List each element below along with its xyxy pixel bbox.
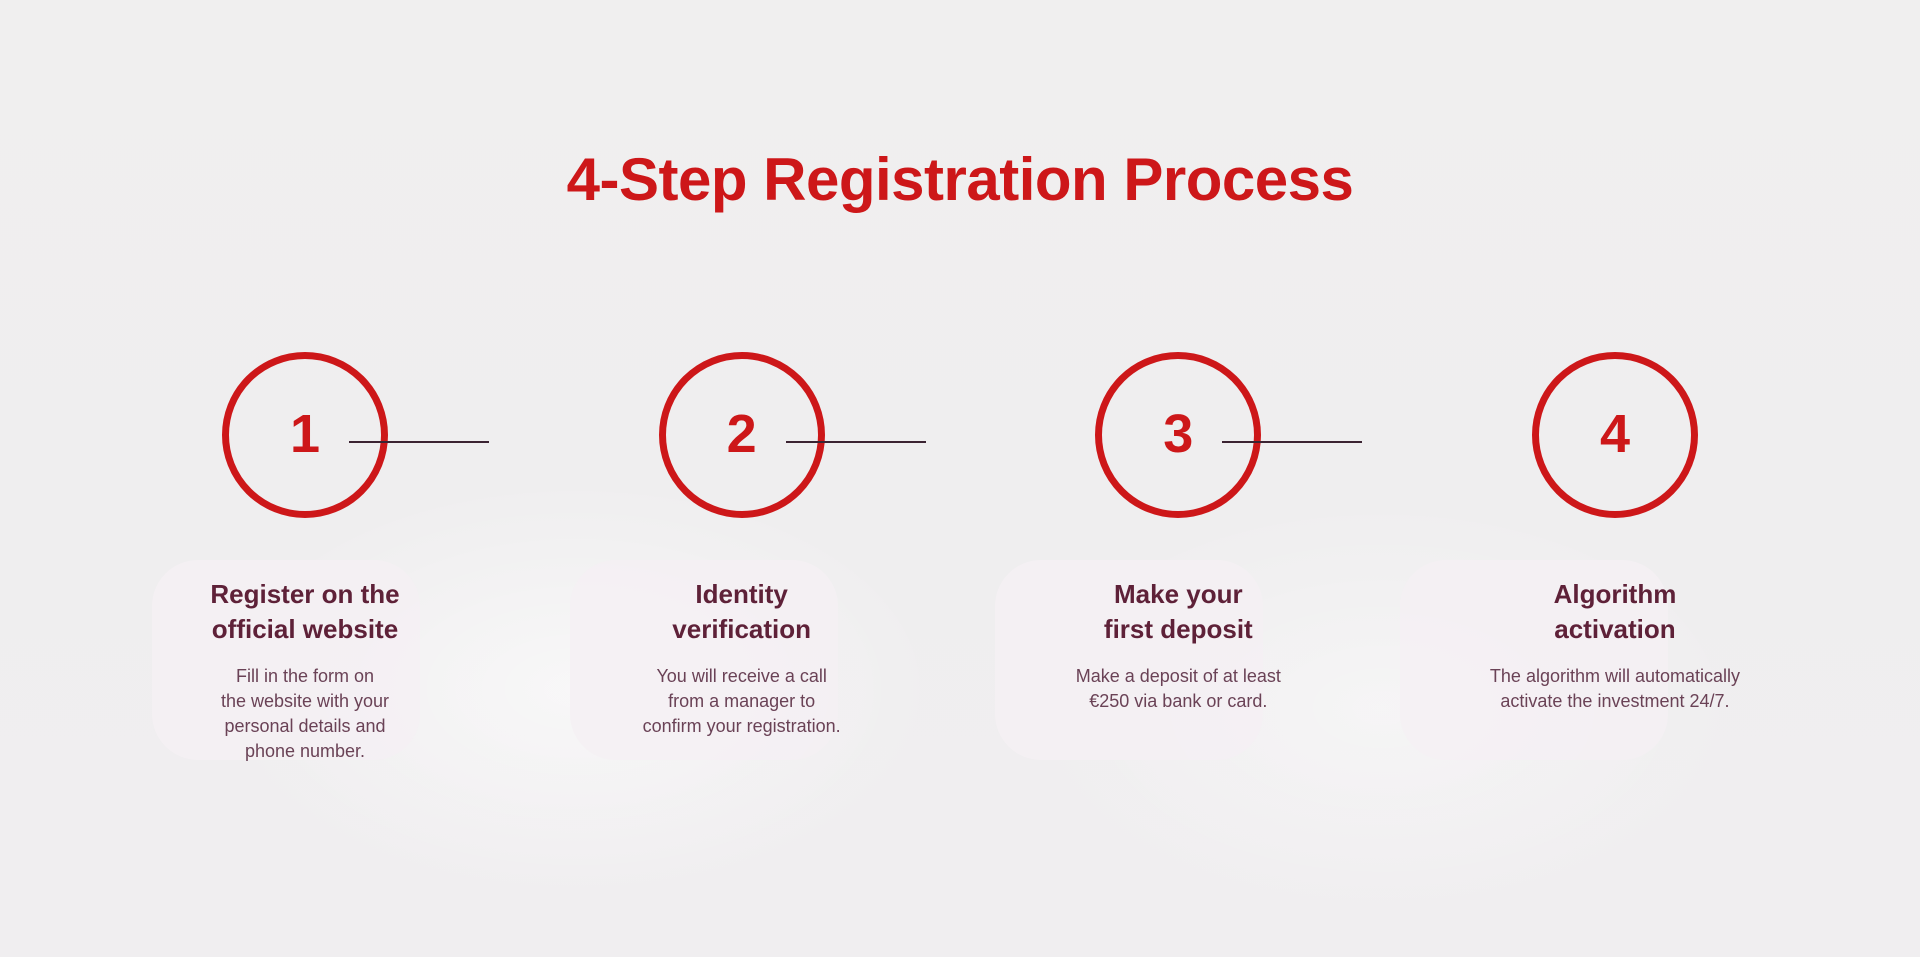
step-item-1: 1 Register on the official website Fill …: [130, 352, 480, 763]
step-circle-2: 2: [659, 352, 825, 518]
page-title: 4-Step Registration Process: [0, 148, 1920, 211]
step-number-1: 1: [290, 407, 320, 461]
step-connector-1-to-2: [349, 441, 489, 443]
step-item-3: 3 Make your first deposit Make a deposit…: [1003, 352, 1353, 714]
step-description-1: Fill in the form on the website with you…: [221, 664, 389, 763]
steps-row: 1 Register on the official website Fill …: [130, 352, 1790, 763]
step-number-3: 3: [1163, 407, 1193, 461]
registration-process-infographic: 4-Step Registration Process 1 Register o…: [0, 0, 1920, 957]
step-connector-3-to-4: [1222, 441, 1362, 443]
step-heading-1: Register on the official website: [210, 577, 399, 646]
step-number-4: 4: [1600, 407, 1630, 461]
step-description-4: The algorithm will automatically activat…: [1490, 664, 1740, 714]
step-number-2: 2: [727, 407, 757, 461]
step-heading-3: Make your first deposit: [1104, 577, 1253, 646]
step-circle-1: 1: [222, 352, 388, 518]
step-item-2: 2 Identity verification You will receive…: [567, 352, 917, 739]
step-heading-2: Identity verification: [672, 577, 811, 646]
step-circle-3: 3: [1095, 352, 1261, 518]
step-description-2: You will receive a call from a manager t…: [643, 664, 841, 738]
step-connector-2-to-3: [786, 441, 926, 443]
step-heading-4: Algorithm activation: [1554, 577, 1677, 646]
step-circle-4: 4: [1532, 352, 1698, 518]
step-description-3: Make a deposit of at least €250 via bank…: [1076, 664, 1281, 714]
step-item-4: 4 Algorithm activation The algorithm wil…: [1440, 352, 1790, 714]
